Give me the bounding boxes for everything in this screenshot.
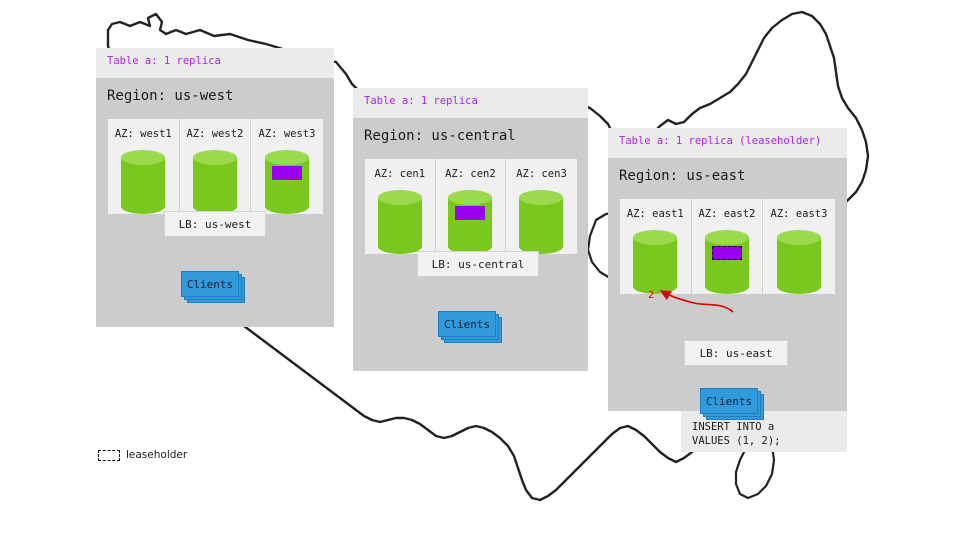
diagram-canvas: Table a: 1 replica Region: us-west AZ: w… <box>0 0 960 540</box>
request-arrow-layer <box>0 0 960 540</box>
arrow-lb-to-east1 <box>661 291 733 312</box>
arrow-step-label: 2 <box>648 290 654 301</box>
